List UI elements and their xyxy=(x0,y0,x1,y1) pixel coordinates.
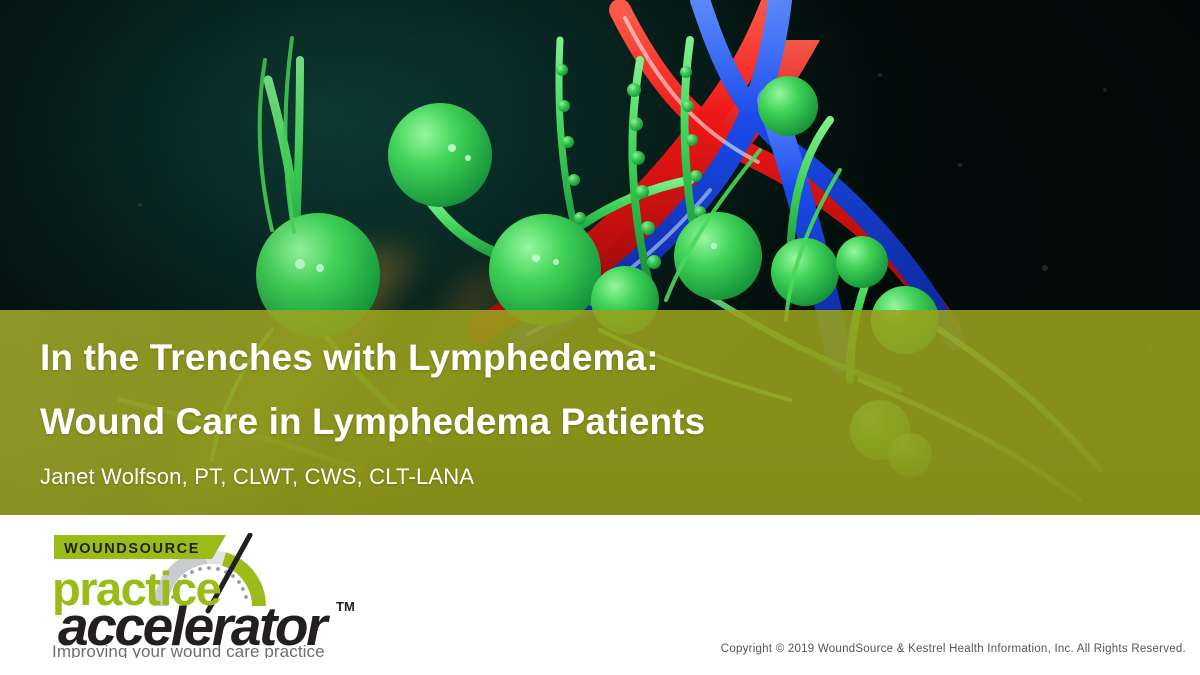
title-text-wrapper: In the Trenches with Lymphedema: Wound C… xyxy=(40,310,1140,515)
title-slide: In the Trenches with Lymphedema: Wound C… xyxy=(0,0,1200,675)
presenter-name: Janet Wolfson, PT, CLWT, CWS, CLT-LANA xyxy=(40,464,474,490)
logo-trademark-symbol: TM xyxy=(336,599,355,614)
title-band: In the Trenches with Lymphedema: Wound C… xyxy=(0,310,1200,515)
woundsource-tag-text: WOUNDSOURCE xyxy=(64,541,200,557)
logo-tagline: Improving your wound care practice xyxy=(52,642,325,658)
slide-title-line-2: Wound Care in Lymphedema Patients xyxy=(40,403,705,440)
slide-footer: WOUNDSOURCE practice accelerator TM Impr… xyxy=(0,515,1200,675)
woundsource-practice-accelerator-logo[interactable]: WOUNDSOURCE practice accelerator TM Impr… xyxy=(36,533,366,658)
woundsource-tag: WOUNDSOURCE xyxy=(54,535,226,559)
slide-title-line-1: In the Trenches with Lymphedema: xyxy=(40,339,659,376)
copyright-notice: Copyright © 2019 WoundSource & Kestrel H… xyxy=(721,643,1186,655)
